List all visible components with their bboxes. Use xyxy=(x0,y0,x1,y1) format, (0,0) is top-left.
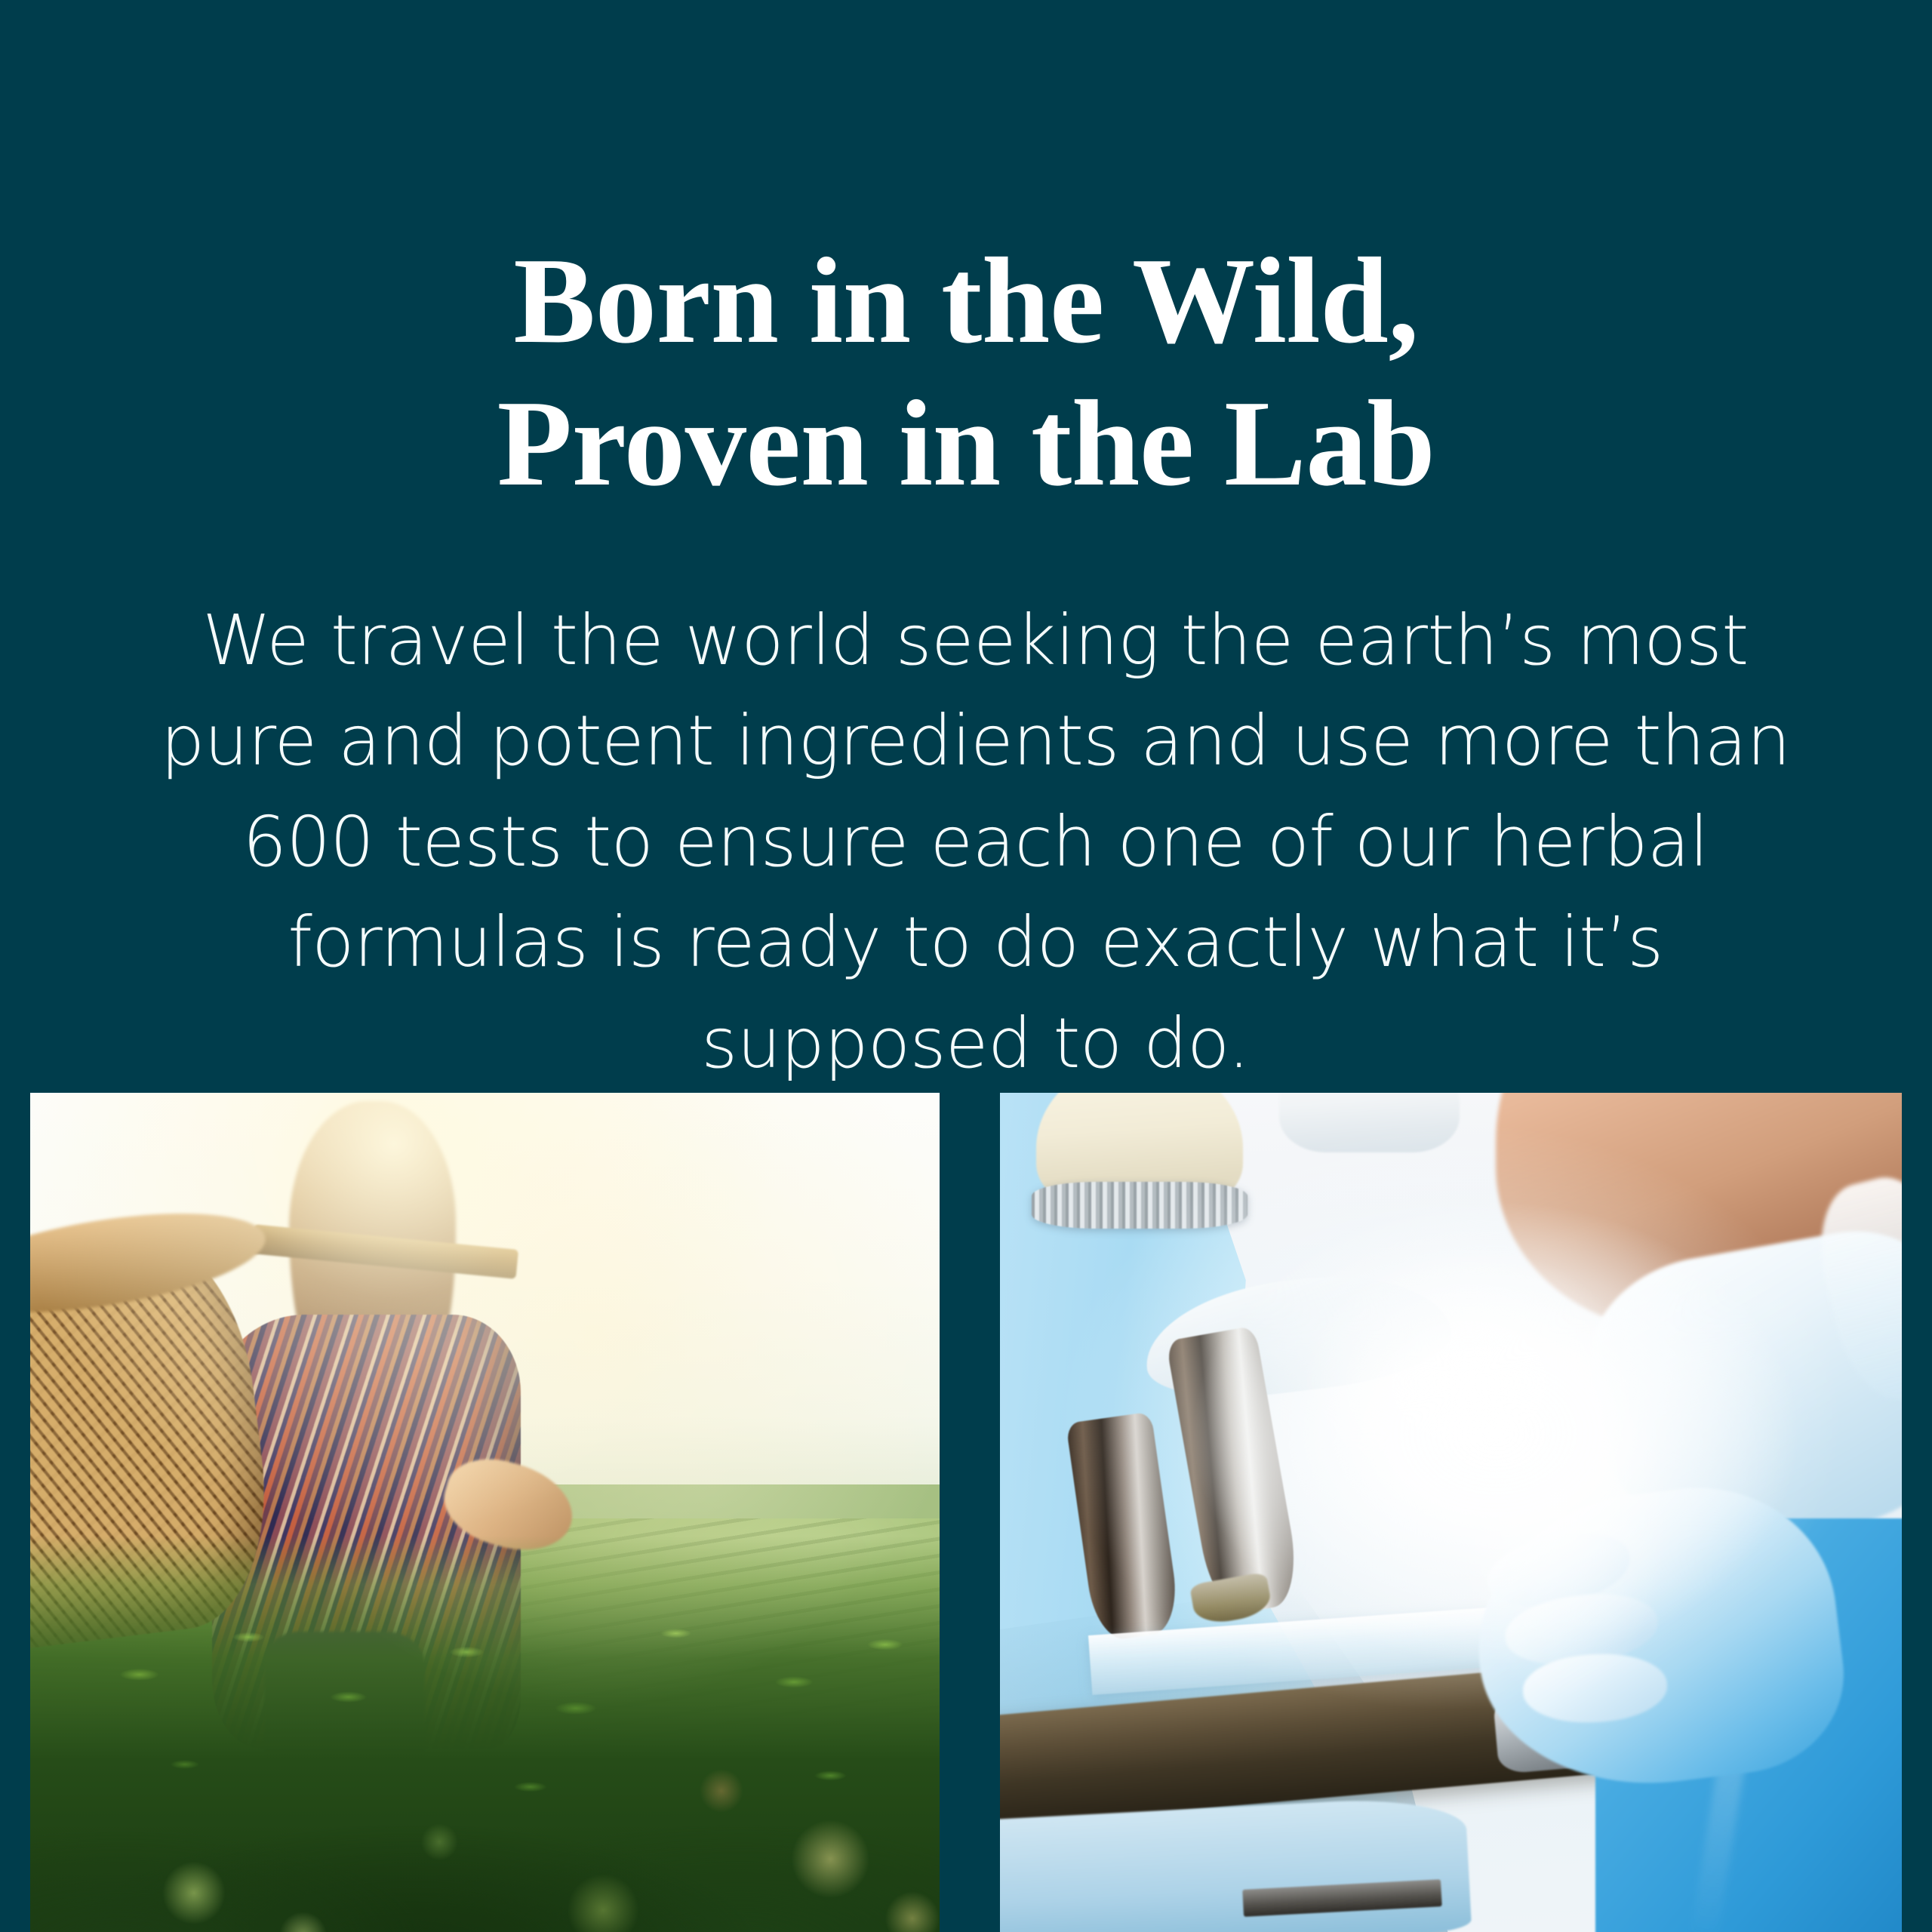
body-copy: We travel the world seeking the earth’s … xyxy=(132,590,1819,1081)
field-bokeh-layer xyxy=(30,1093,940,1932)
lab-lens-flare xyxy=(1000,1093,1902,1932)
image-strip: Woman carrying a woven basket on a shoul… xyxy=(0,1081,1932,1932)
page-title: Born in the Wild, Proven in the Lab xyxy=(0,230,1932,515)
text-panel: Born in the Wild, Proven in the Lab We t… xyxy=(0,0,1932,1081)
photo-tea-harvest: Woman carrying a woven basket on a shoul… xyxy=(30,1093,940,1932)
promo-card: Born in the Wild, Proven in the Lab We t… xyxy=(0,0,1932,1932)
photo-lab-microscope: Scientist wearing a face mask and blue n… xyxy=(1000,1093,1902,1932)
